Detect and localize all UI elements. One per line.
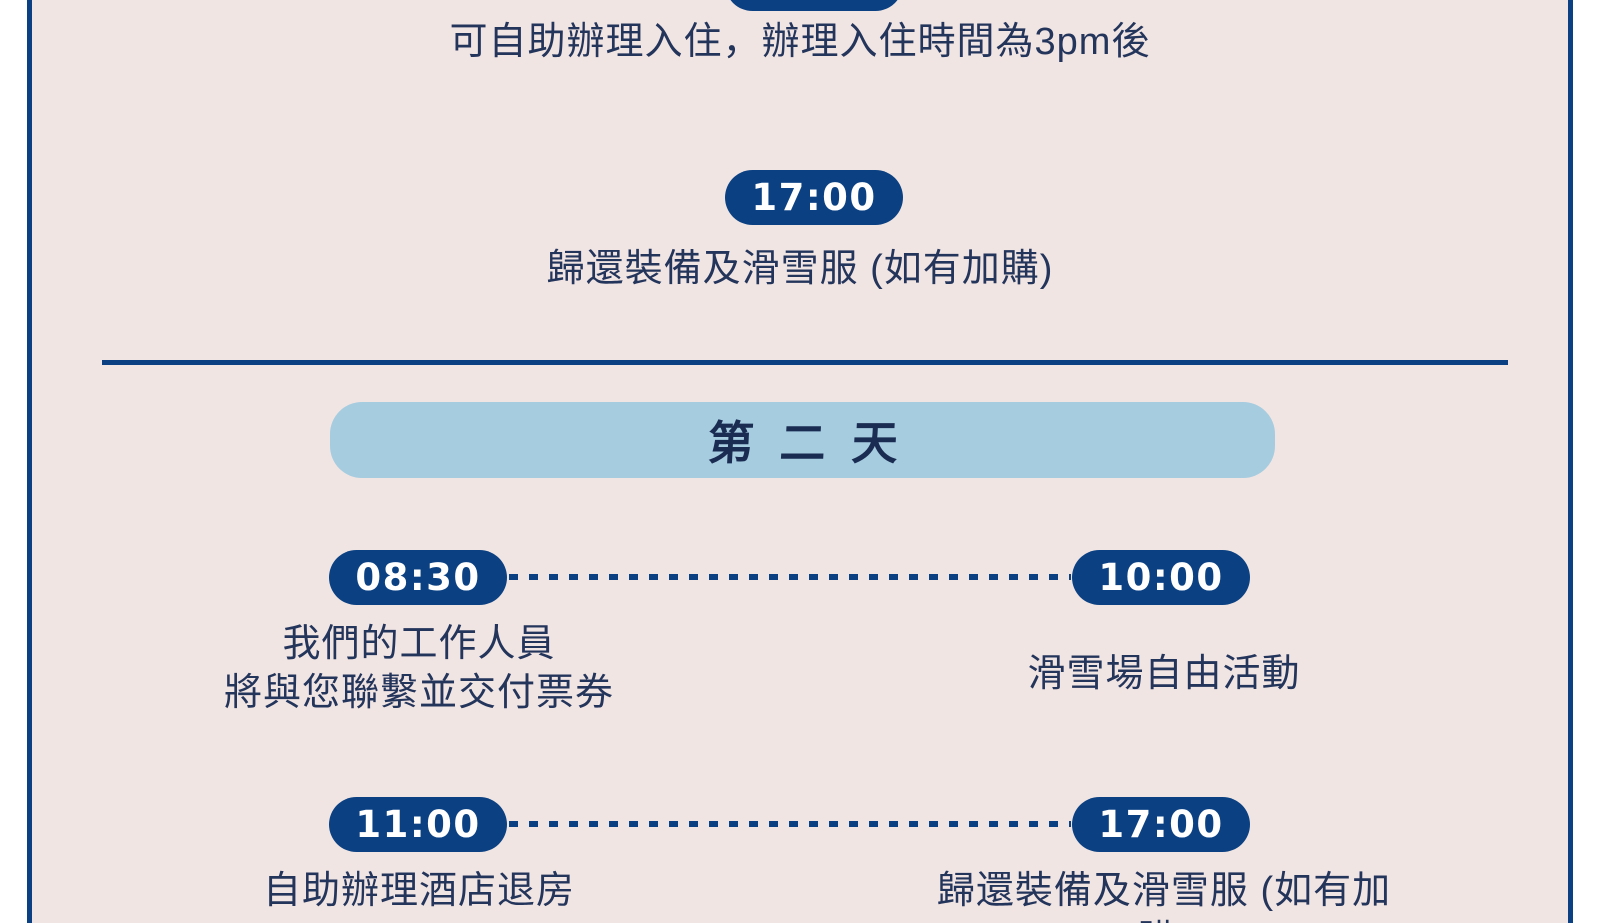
timeline-dotted-connector (509, 574, 1071, 580)
day2-time-badge-0830: 08:30 (329, 550, 507, 605)
day1-checkin-note: 可自助辦理入住，辦理入住時間為3pm後 (32, 18, 1568, 67)
day2-banner-label: 第二天 (680, 407, 925, 473)
section-divider (102, 360, 1508, 365)
day2-activity-1100: 自助辦理酒店退房 (172, 867, 666, 916)
itinerary-poster: 可自助辦理入住，辦理入住時間為3pm後 17:00 歸還裝備及滑雪服 (如有加購… (0, 0, 1600, 923)
day2-activity-0830: 我們的工作人員 將與您聯繫並交付票券 (172, 620, 666, 719)
day2-activity-1000: 滑雪場自由活動 (917, 650, 1411, 699)
day1-time-badge-1700: 17:00 (725, 170, 903, 225)
day1-previous-time-badge-partial (725, 0, 903, 11)
day1-activity-1700: 歸還裝備及滑雪服 (如有加購) (32, 245, 1568, 294)
day2-banner: 第二天 (330, 402, 1275, 478)
day2-time-badge-1100: 11:00 (329, 797, 507, 852)
timeline-dotted-connector (509, 821, 1071, 827)
poster-frame: 可自助辦理入住，辦理入住時間為3pm後 17:00 歸還裝備及滑雪服 (如有加購… (27, 0, 1573, 923)
day2-time-badge-1000: 10:00 (1072, 550, 1250, 605)
day2-time-badge-1700: 17:00 (1072, 797, 1250, 852)
day2-activity-1700: 歸還裝備及滑雪服 (如有加購) (917, 867, 1411, 923)
